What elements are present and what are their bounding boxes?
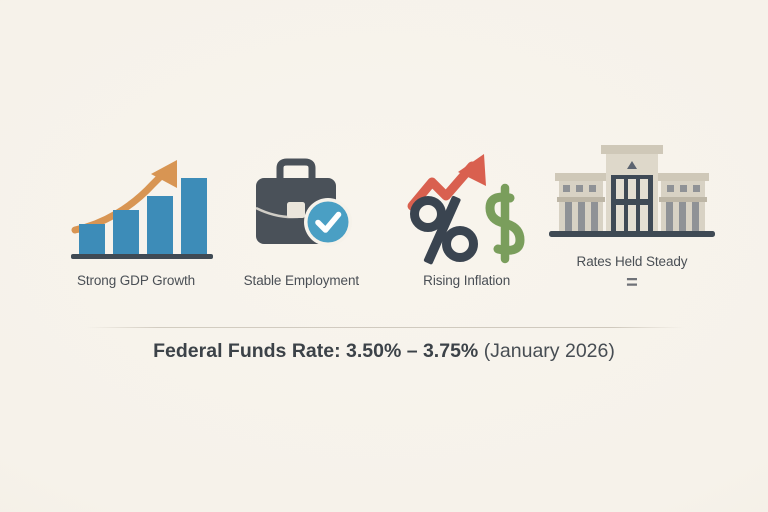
rate-summary-infographic: Strong GDP Growth bbox=[0, 0, 768, 512]
indicator-stable-employment: Stable Employment bbox=[225, 152, 377, 288]
indicator-strong-gdp-growth: Strong GDP Growth bbox=[60, 152, 212, 288]
indicator-rising-inflation: Rising Inflation bbox=[391, 152, 543, 288]
indicator-rates-held-steady: Rates Held Steady = bbox=[556, 133, 708, 288]
bank-building-icon bbox=[562, 133, 702, 243]
indicator-row: Strong GDP Growth bbox=[60, 138, 708, 288]
indicator-label: Stable Employment bbox=[244, 273, 359, 288]
federal-funds-rate-footer: Federal Funds Rate: 3.50% – 3.75% (Janua… bbox=[0, 340, 768, 363]
rate-headline: Federal Funds Rate: 3.50% – 3.75% bbox=[153, 340, 478, 362]
indicator-label: Strong GDP Growth bbox=[77, 273, 195, 288]
equals-sign-icon: = bbox=[626, 278, 638, 288]
indicator-label: Rates Held Steady bbox=[577, 254, 688, 269]
bar-chart-rising-icon bbox=[66, 152, 206, 262]
briefcase-check-icon bbox=[231, 152, 371, 262]
indicator-label: Rising Inflation bbox=[423, 273, 510, 288]
percent-dollar-rising-icon bbox=[397, 152, 537, 262]
rate-period: (January 2026) bbox=[484, 340, 615, 362]
section-divider bbox=[86, 327, 684, 328]
